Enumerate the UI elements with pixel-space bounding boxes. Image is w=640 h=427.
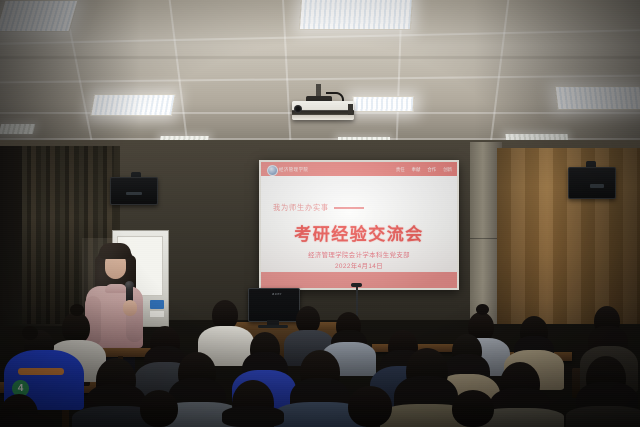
slide-header-words: 责任 奉献 合作 创新 [396, 166, 452, 173]
right-wall-speaker [568, 167, 616, 199]
kicker-rule [334, 207, 364, 208]
projection-screen: 经济管理学院 责任 奉献 合作 创新 我为师生办实事 考研经验交流会 经济管理学… [261, 162, 457, 288]
slide-subtitle: 经济管理学院会计学本科生党支部 [261, 250, 457, 259]
presenter-hand [123, 300, 137, 316]
microphone-head-icon [125, 281, 134, 289]
ceiling-lamp [0, 0, 79, 32]
header-word: 责任 [396, 166, 405, 173]
ceiling-lamp [90, 94, 176, 116]
panel-white-label [150, 311, 164, 317]
ceiling-lamp [0, 124, 35, 134]
projector-vent [348, 104, 353, 115]
ceiling-lamp [299, 0, 413, 30]
header-word: 合作 [427, 166, 436, 173]
presenter-collar [105, 284, 127, 293]
suspended-ceiling [0, 0, 640, 152]
slide-date: 2022年4月14日 [261, 261, 457, 270]
projector-lens-icon [294, 105, 302, 113]
header-word: 奉献 [412, 166, 421, 173]
monitor-base [258, 325, 288, 328]
left-wall-speaker [110, 177, 158, 205]
ceiling-lamp [555, 86, 640, 110]
header-word: 创新 [443, 166, 452, 173]
slide-kicker-text: 我为师生办实事 [273, 203, 329, 213]
speaker-glint [126, 192, 142, 195]
slide-logo-text: 经济管理学院 [279, 166, 308, 173]
panel-blue-label [150, 300, 164, 309]
monitor-brand-label: acer [272, 291, 282, 296]
presenter-fringe [99, 243, 131, 259]
microphone-stand-head [351, 283, 362, 287]
school-logo-icon [267, 165, 278, 176]
lecture-hall-photo: 经济管理学院 责任 奉献 合作 创新 我为师生办实事 考研经验交流会 经济管理学… [0, 0, 640, 427]
speaker-glint [590, 184, 604, 188]
hoodie-print-text [18, 368, 64, 375]
slide-body: 我为师生办实事 考研经验交流会 经济管理学院会计学本科生党支部 2022年4月1… [261, 176, 457, 272]
ceiling-lamp [352, 96, 415, 112]
slide-kicker: 我为师生办实事 [273, 203, 364, 213]
slide-title: 考研经验交流会 [261, 220, 457, 245]
slide-header-bar: 经济管理学院 责任 奉献 合作 创新 [261, 162, 457, 176]
